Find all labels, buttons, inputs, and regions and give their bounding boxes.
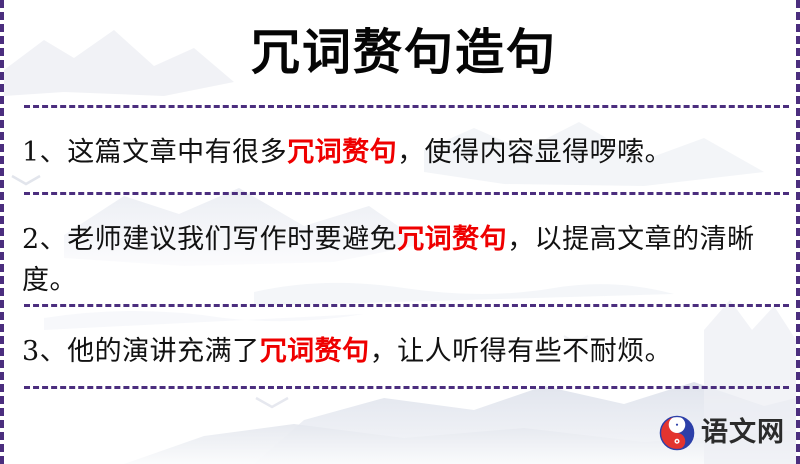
sentence-item-1: 1、这篇文章中有很多冗词赘句，使得内容显得啰嗦。 — [22, 132, 784, 173]
sentence-3-index: 3、 — [22, 336, 67, 367]
divider-after-sentence-3 — [24, 386, 789, 389]
sentence-2-before: 老师建议我们写作时要避免 — [67, 224, 397, 255]
sentence-3-before: 他的演讲充满了 — [67, 336, 260, 367]
sentence-2-index: 2、 — [22, 224, 67, 255]
site-logo: 语文网 — [659, 411, 794, 455]
sentence-1-before: 这篇文章中有很多 — [67, 137, 287, 168]
sentence-1-keyword: 冗词赘句 — [287, 137, 397, 168]
slide-content: 冗词赘句造句 1、这篇文章中有很多冗词赘句，使得内容显得啰嗦。 2、老师建议我们… — [4, 0, 800, 464]
site-logo-text: 语文网 — [701, 418, 785, 448]
sentence-1-index: 1、 — [22, 137, 67, 168]
divider-top — [24, 105, 789, 108]
page-title: 冗词赘句造句 — [4, 22, 800, 82]
sentence-item-3: 3、他的演讲充满了冗词赘句，让人听得有些不耐烦。 — [22, 331, 784, 372]
sentence-item-2: 2、老师建议我们写作时要避免冗词赘句，以提高文章的清晰度。 — [22, 219, 784, 301]
sentence-3-keyword: 冗词赘句 — [260, 336, 370, 367]
taiji-yinyang-icon — [659, 415, 695, 451]
sentence-1-after: ，使得内容显得啰嗦。 — [397, 137, 672, 168]
divider-after-sentence-2 — [24, 304, 789, 307]
slide-page: 冗词赘句造句 1、这篇文章中有很多冗词赘句，使得内容显得啰嗦。 2、老师建议我们… — [0, 0, 800, 464]
divider-after-sentence-1 — [24, 192, 789, 195]
sentence-2-keyword: 冗词赘句 — [397, 224, 507, 255]
sentence-3-after: ，让人听得有些不耐烦。 — [370, 336, 673, 367]
